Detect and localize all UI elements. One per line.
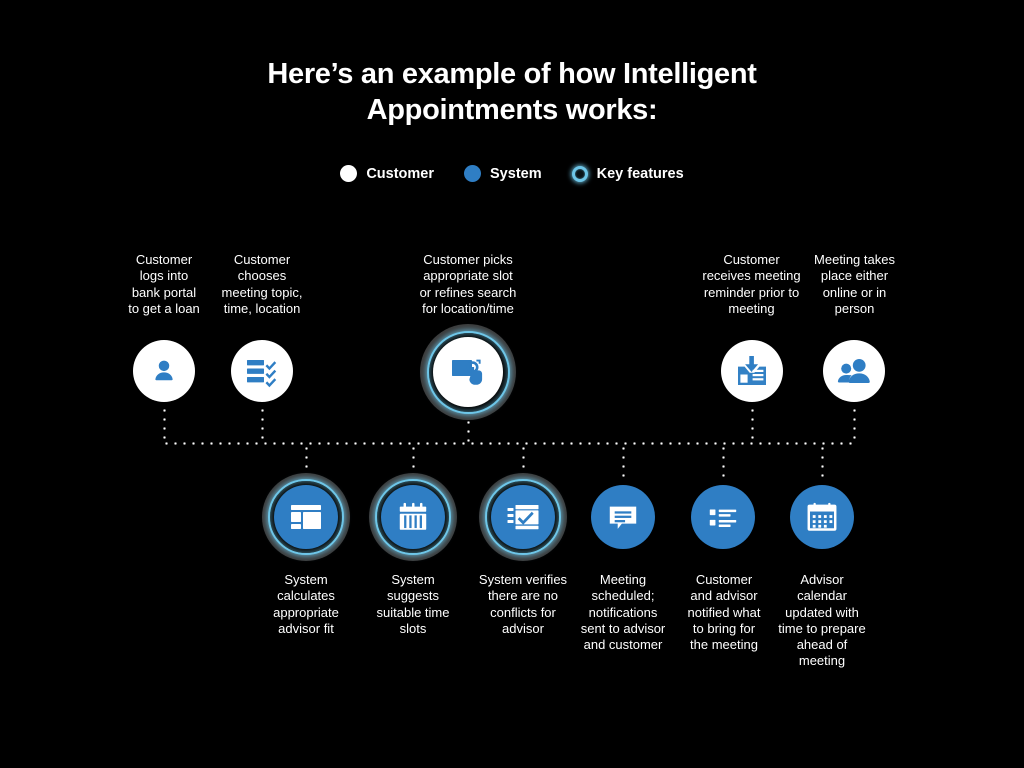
message-icon: [606, 500, 640, 534]
calendar-grid-icon: [805, 500, 839, 534]
connector-top-4: [751, 406, 754, 443]
connector-bottom-2: [412, 444, 415, 468]
top-step-3-circle[interactable]: [433, 337, 503, 407]
top-step-2-label: Customer chooses meeting topic, time, lo…: [197, 252, 327, 317]
connector-top-3: [467, 418, 470, 443]
bottom-step-5-circle[interactable]: [691, 485, 755, 549]
legend: Customer System Key features: [0, 165, 1024, 182]
connector-top-5: [853, 406, 856, 443]
customer-dot-icon: [340, 165, 357, 182]
bottom-step-5-label: Customer and advisor notified what to br…: [668, 572, 780, 653]
connector-bottom-6: [821, 444, 824, 482]
connector-bottom-4: [622, 444, 625, 482]
bottom-step-4-label: Meeting scheduled; notifications sent to…: [567, 572, 679, 653]
connector-bottom-1: [305, 444, 308, 468]
top-step-3-label: Customer picks appropriate slot or refin…: [398, 252, 538, 317]
bottom-step-1-key-feature-ring[interactable]: [262, 473, 350, 561]
top-step-1-circle[interactable]: [133, 340, 195, 402]
dashboard-icon: [288, 499, 324, 535]
legend-item-customer[interactable]: Customer: [340, 165, 434, 182]
bottom-step-6-circle[interactable]: [790, 485, 854, 549]
bottom-step-6-label: Advisor calendar updated with time to pr…: [766, 572, 878, 670]
top-step-3-key-feature-ring[interactable]: [420, 324, 516, 420]
touch-screen-icon: [448, 352, 488, 392]
bottom-step-1-glow-ring: [268, 479, 344, 555]
connector-bottom-3: [522, 444, 525, 468]
slide-canvas: Here’s an example of how Intelligent App…: [0, 0, 1024, 768]
people-icon: [836, 353, 872, 389]
bottom-step-1-label: System calculates appropriate advisor fi…: [248, 572, 364, 637]
top-step-5-circle[interactable]: [823, 340, 885, 402]
key-feature-ring-icon: [572, 166, 588, 182]
bottom-step-3-circle[interactable]: [491, 485, 555, 549]
verify-form-icon: [505, 499, 541, 535]
legend-label-key-features: Key features: [597, 166, 684, 182]
connector-top-1: [163, 406, 166, 443]
title-line-2: Appointments works:: [0, 92, 1024, 128]
legend-item-system[interactable]: System: [464, 165, 542, 182]
system-dot-icon: [464, 165, 481, 182]
inbox-icon: [734, 353, 770, 389]
person-icon: [149, 356, 179, 386]
connector-top-2: [261, 406, 264, 443]
list-icon: [706, 500, 740, 534]
bottom-step-2-circle[interactable]: [381, 485, 445, 549]
bottom-step-4-circle[interactable]: [591, 485, 655, 549]
legend-label-customer: Customer: [366, 166, 434, 182]
connector-bottom-5: [722, 444, 725, 482]
bottom-step-3-label: System verifies there are no conflicts f…: [464, 572, 582, 637]
checklist-icon: [244, 353, 280, 389]
top-step-5-label: Meeting takes place either online or in …: [797, 252, 912, 317]
top-step-2-circle[interactable]: [231, 340, 293, 402]
page-title: Here’s an example of how Intelligent App…: [0, 56, 1024, 129]
calendar-icon: [396, 500, 430, 534]
bottom-step-2-label: System suggests suitable time slots: [357, 572, 469, 637]
bottom-step-3-glow-ring: [485, 479, 561, 555]
title-line-1: Here’s an example of how Intelligent: [267, 58, 756, 90]
top-step-3-glow-ring: [427, 331, 510, 414]
legend-label-system: System: [490, 166, 542, 182]
bottom-step-3-key-feature-ring[interactable]: [479, 473, 567, 561]
bottom-step-2-key-feature-ring[interactable]: [369, 473, 457, 561]
legend-item-key-features[interactable]: Key features: [572, 166, 684, 182]
bottom-step-1-circle[interactable]: [274, 485, 338, 549]
bottom-step-2-glow-ring: [375, 479, 451, 555]
top-step-4-circle[interactable]: [721, 340, 783, 402]
